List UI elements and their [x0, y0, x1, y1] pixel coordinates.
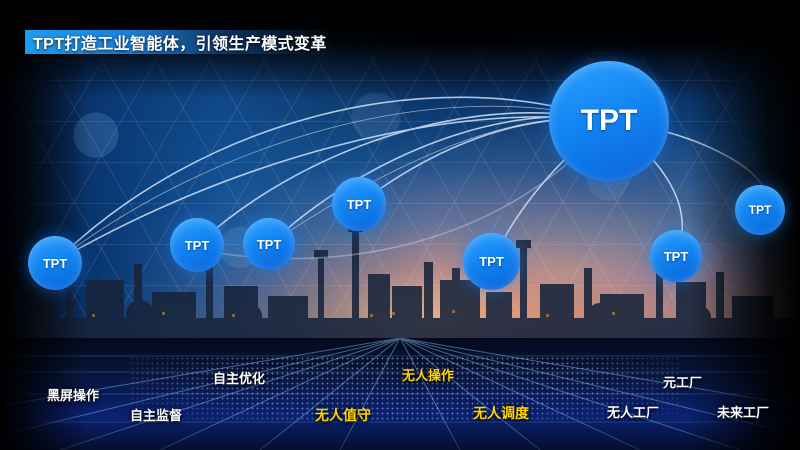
page-title: TPT打造工业智能体，引领生产模式变革: [33, 30, 327, 54]
tpt-node-2[interactable]: TPT: [170, 218, 224, 272]
tpt-node-1[interactable]: TPT: [28, 236, 82, 290]
tpt-node-label: TPT: [43, 256, 68, 271]
tpt-node-5[interactable]: TPT: [463, 233, 520, 290]
floor-label-8: 无人工厂: [607, 402, 659, 421]
tpt-node-4[interactable]: TPT: [332, 177, 386, 231]
tpt-node-label: TPT: [479, 254, 504, 269]
tpt-node-7[interactable]: TPT: [650, 230, 702, 282]
tpt-node-label: TPT: [257, 237, 282, 252]
floor-label-7: 元工厂: [663, 372, 702, 391]
floor-label-3: 自主优化: [213, 368, 265, 387]
tpt-node-label: TPT: [347, 197, 372, 212]
tpt-node-label: TPT: [749, 203, 772, 217]
tpt-node-label: TPT: [664, 249, 689, 264]
floor-label-5: 无人值守: [315, 405, 371, 425]
tpt-node-label: TPT: [185, 238, 210, 253]
floor-label-6: 无人调度: [473, 403, 529, 423]
tpt-node-label: TPT: [581, 104, 638, 138]
tpt-node-8[interactable]: TPT: [735, 185, 785, 235]
floor-label-4: 无人操作: [402, 365, 454, 384]
slide-canvas: TPTTPTTPTTPTTPTTPTTPTTPT 黑屏操作自主监督自主优化无人操…: [0, 0, 800, 450]
tpt-node-6[interactable]: TPT: [549, 61, 669, 181]
tpt-node-3[interactable]: TPT: [243, 218, 295, 270]
floor-label-2: 自主监督: [130, 405, 182, 424]
floor-label-9: 未来工厂: [717, 402, 769, 421]
floor-label-1: 黑屏操作: [47, 385, 99, 404]
slide-title-bar: TPT打造工业智能体，引领生产模式变革: [25, 30, 337, 54]
